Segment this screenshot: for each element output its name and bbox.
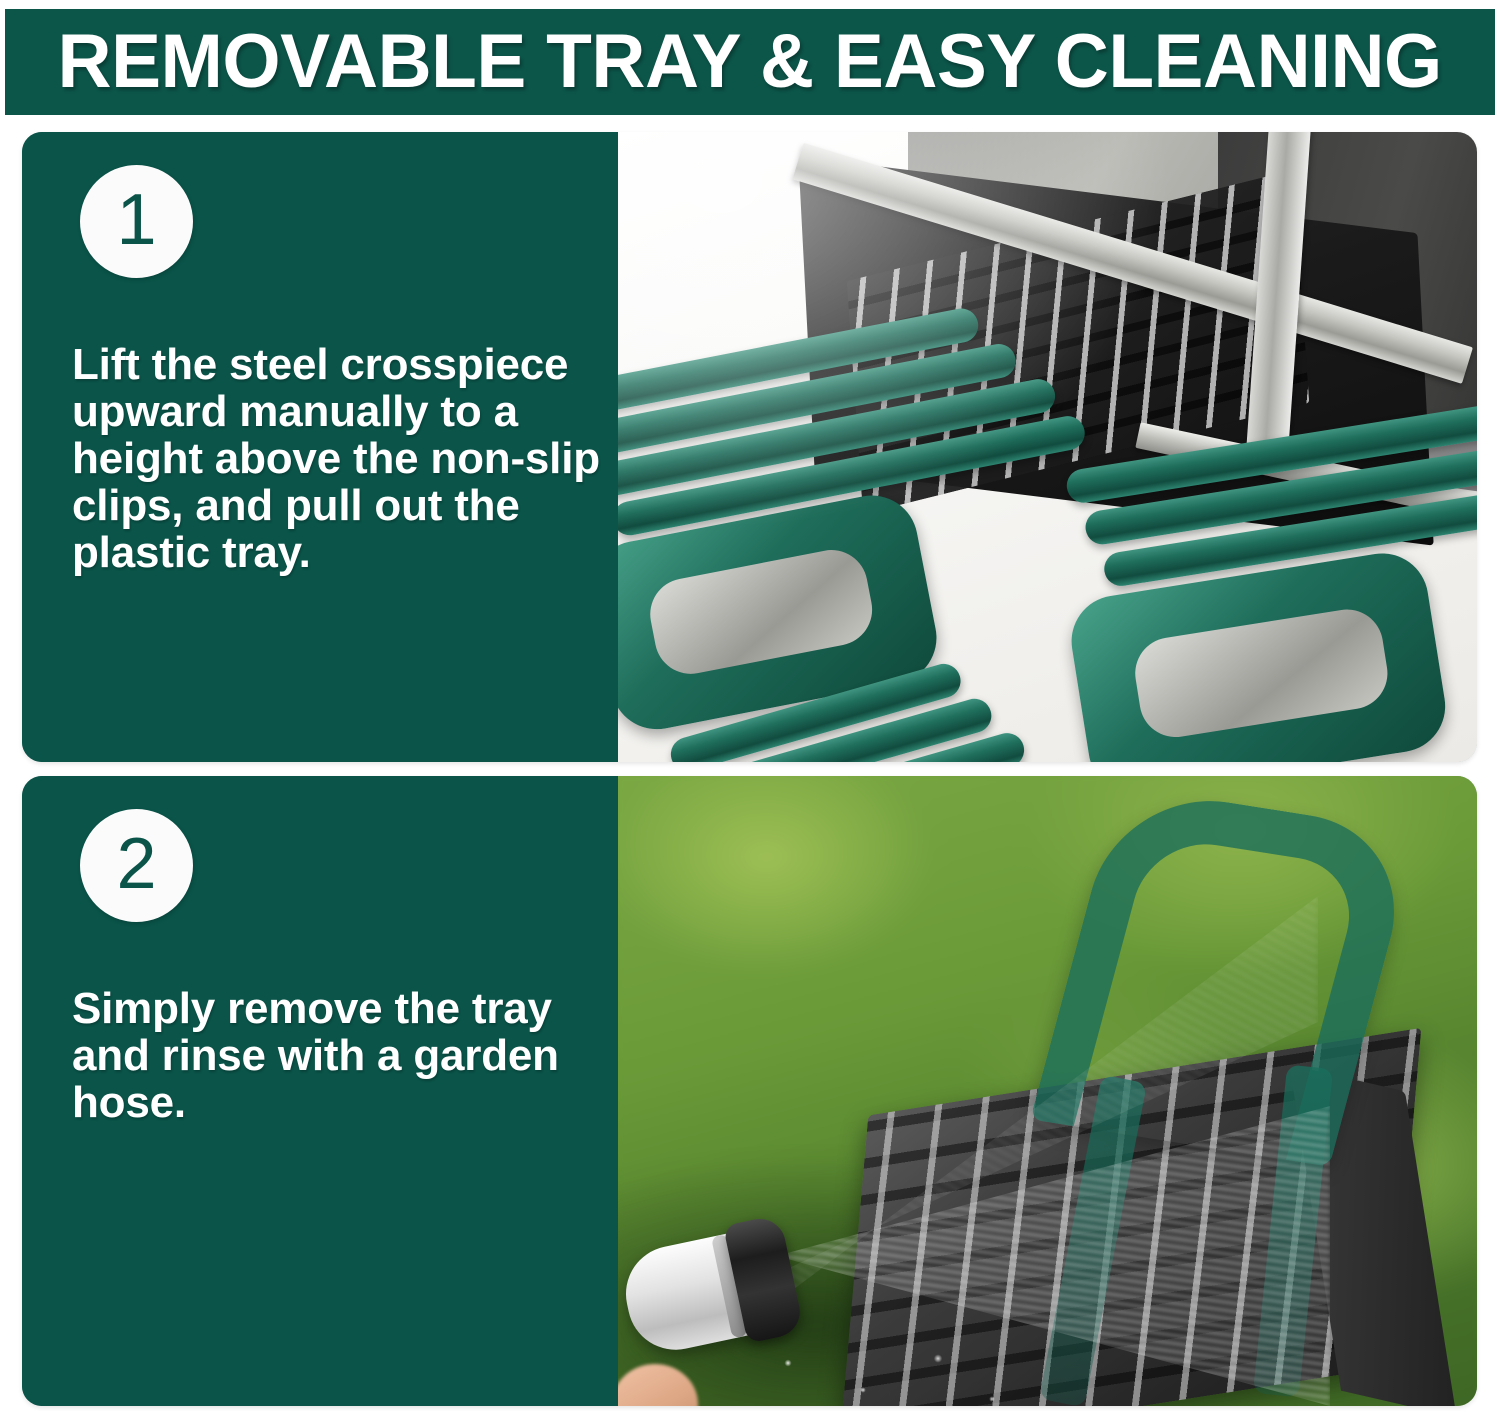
step-2-number: 2	[116, 828, 156, 900]
page-title: REMOVABLE TRAY & EASY CLEANING	[52, 24, 1448, 100]
step-2-photo	[618, 776, 1477, 1406]
step-1-number-badge: 1	[80, 165, 193, 278]
step-panel-1: 1 Lift the steel crosspiece upward manua…	[22, 132, 1477, 762]
kneeler-tray-photo	[618, 132, 1477, 762]
handle-opening	[1130, 604, 1393, 742]
step-1-number: 1	[116, 184, 156, 256]
step-1-photo	[618, 132, 1477, 762]
handle-opening	[644, 544, 878, 680]
step-2-text-column: 2 Simply remove the tray and rinse with …	[22, 776, 618, 1406]
header-banner: REMOVABLE TRAY & EASY CLEANING	[5, 9, 1495, 115]
step-1-text-column: 1 Lift the steel crosspiece upward manua…	[22, 132, 618, 762]
step-2-number-badge: 2	[80, 809, 193, 922]
hose-rinsing-photo	[618, 776, 1477, 1406]
water-droplets	[728, 1336, 1028, 1406]
step-1-description: Lift the steel crosspiece upward manuall…	[72, 341, 607, 576]
step-2-description: Simply remove the tray and rinse with a …	[72, 985, 607, 1126]
step-panel-2: 2 Simply remove the tray and rinse with …	[22, 776, 1477, 1406]
